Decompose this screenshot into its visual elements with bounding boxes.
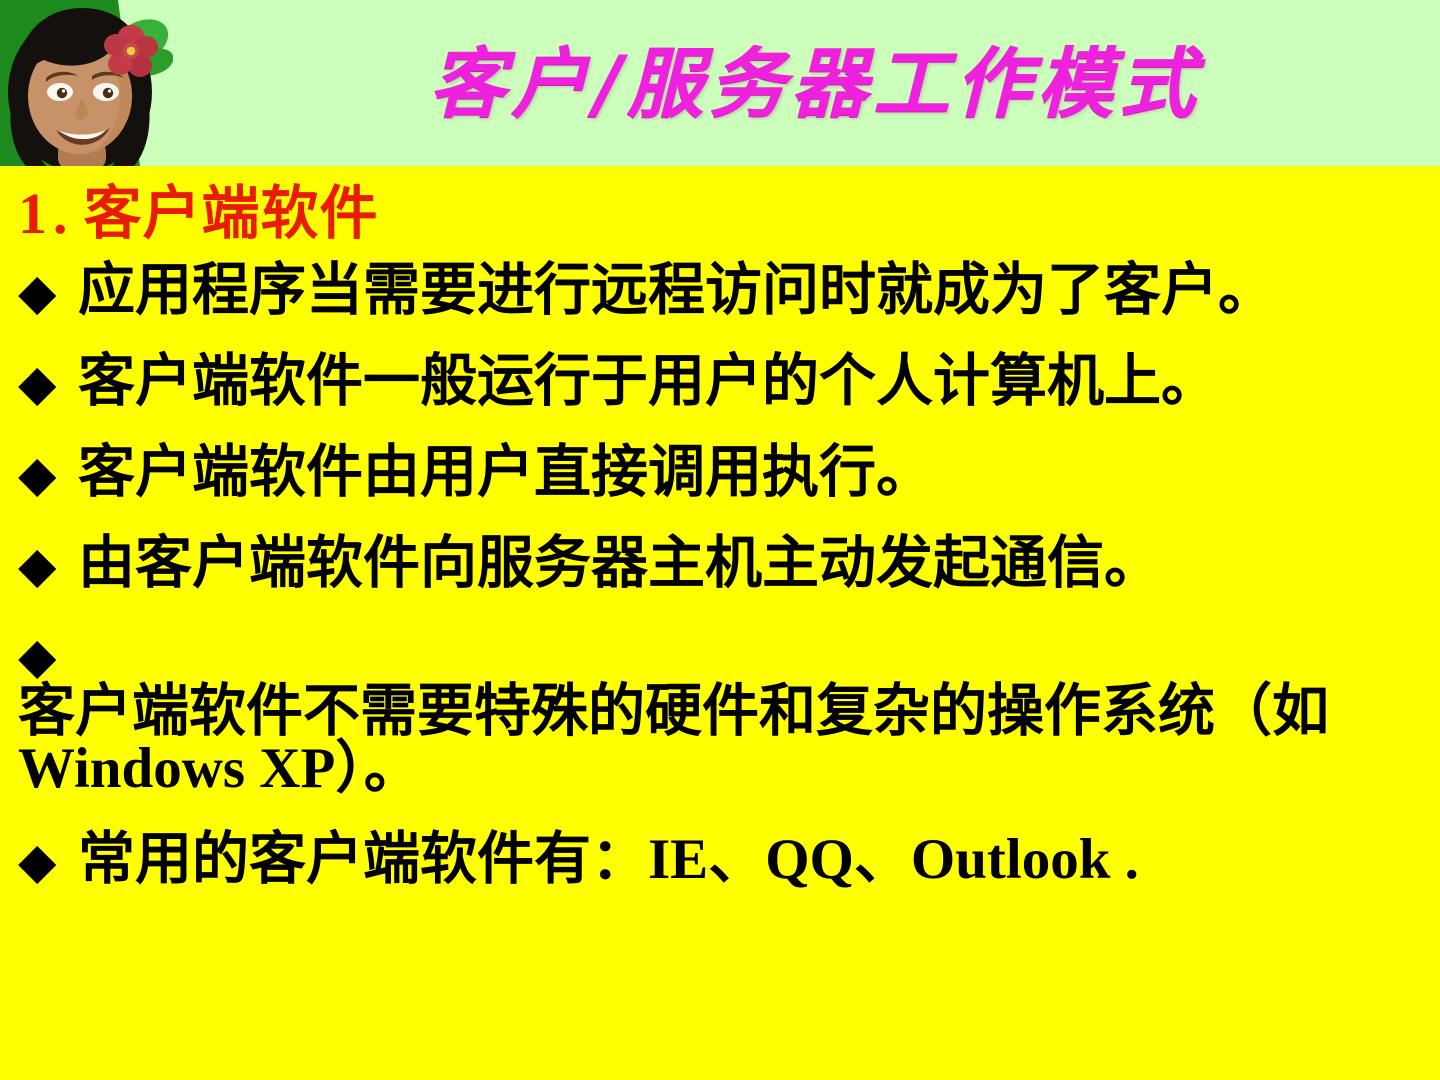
list-item-text: 由客户端软件向服务器主机主动发起通信。: [78, 532, 1161, 595]
section-heading: 1.客户端软件: [18, 184, 379, 245]
list-item: ◆客户端软件不需要特殊的硬件和复杂的操作系统（如Windows XP）。: [0, 626, 1440, 797]
slide-body: 1.客户端软件 ◆应用程序当需要进行远程访问时就成为了客户。 ◆客户端软件一般运…: [0, 166, 1440, 1080]
section-number: 1.: [18, 181, 74, 246]
list-item-text: 常用的客户端软件有：IE、QQ、Outlook .: [78, 828, 1139, 891]
presentation-slide: 客户/服务器工作模式 1.客户端软件 ◆应用程序当需要进行远程访问时就成为了客户…: [0, 0, 1440, 1080]
diamond-bullet-icon: ◆: [18, 540, 78, 590]
diamond-bullet-icon: ◆: [18, 449, 78, 499]
list-item: ◆由客户端软件向服务器主机主动发起通信。: [0, 535, 1440, 592]
list-item-text: 客户端软件由用户直接调用执行。: [78, 441, 933, 504]
list-item: ◆客户端软件由用户直接调用执行。: [0, 444, 1440, 501]
avatar: [0, 0, 173, 166]
slide-header: 客户/服务器工作模式: [0, 0, 1440, 166]
bullet-list: ◆应用程序当需要进行远程访问时就成为了客户。 ◆客户端软件一般运行于用户的个人计…: [0, 262, 1440, 888]
list-item: ◆应用程序当需要进行远程访问时就成为了客户。: [0, 262, 1440, 319]
diamond-bullet-icon: ◆: [18, 358, 78, 408]
list-item-text: 客户端软件不需要特殊的硬件和复杂的操作系统（如Windows XP）。: [18, 683, 1364, 797]
avatar-illustration: [0, 0, 173, 166]
list-item-text: 应用程序当需要进行远程访问时就成为了客户。: [78, 259, 1275, 322]
diamond-bullet-icon: ◆: [18, 267, 78, 317]
diamond-bullet-icon: ◆: [18, 631, 78, 681]
slide-title: 客户/服务器工作模式: [190, 24, 1440, 144]
list-item: ◆客户端软件一般运行于用户的个人计算机上。: [0, 353, 1440, 410]
list-item-text: 客户端软件一般运行于用户的个人计算机上。: [78, 350, 1218, 413]
section-heading-text: 客户端软件: [84, 181, 379, 246]
list-item: ◆常用的客户端软件有：IE、QQ、Outlook .: [0, 831, 1440, 888]
diamond-bullet-icon: ◆: [18, 836, 78, 886]
